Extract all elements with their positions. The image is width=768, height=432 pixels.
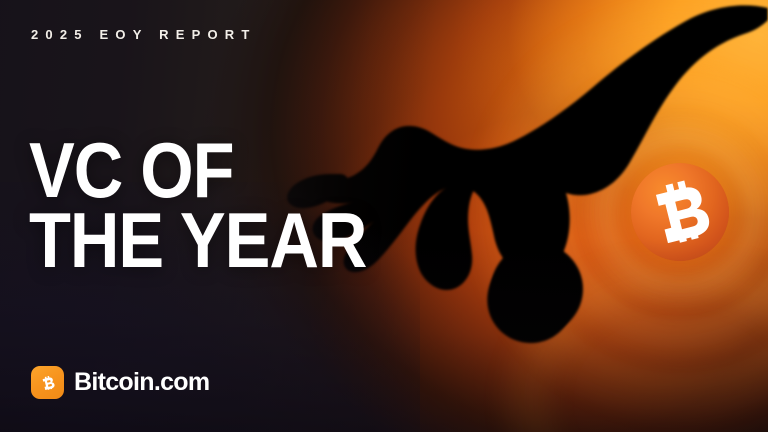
- report-kicker: 2025 EOY REPORT: [31, 28, 257, 41]
- brand-name: Bitcoin.com: [74, 370, 209, 395]
- poster-canvas: 2025 EOY REPORT VC OF THE YEAR Bitcoin.c…: [0, 0, 768, 432]
- bitcoin-mark-icon: [31, 366, 64, 399]
- page-title: VC OF THE YEAR: [29, 136, 366, 276]
- brand-logo[interactable]: Bitcoin.com: [31, 366, 209, 399]
- headline-line-2: THE YEAR: [29, 206, 366, 276]
- bitcoin-b-icon: [37, 372, 59, 394]
